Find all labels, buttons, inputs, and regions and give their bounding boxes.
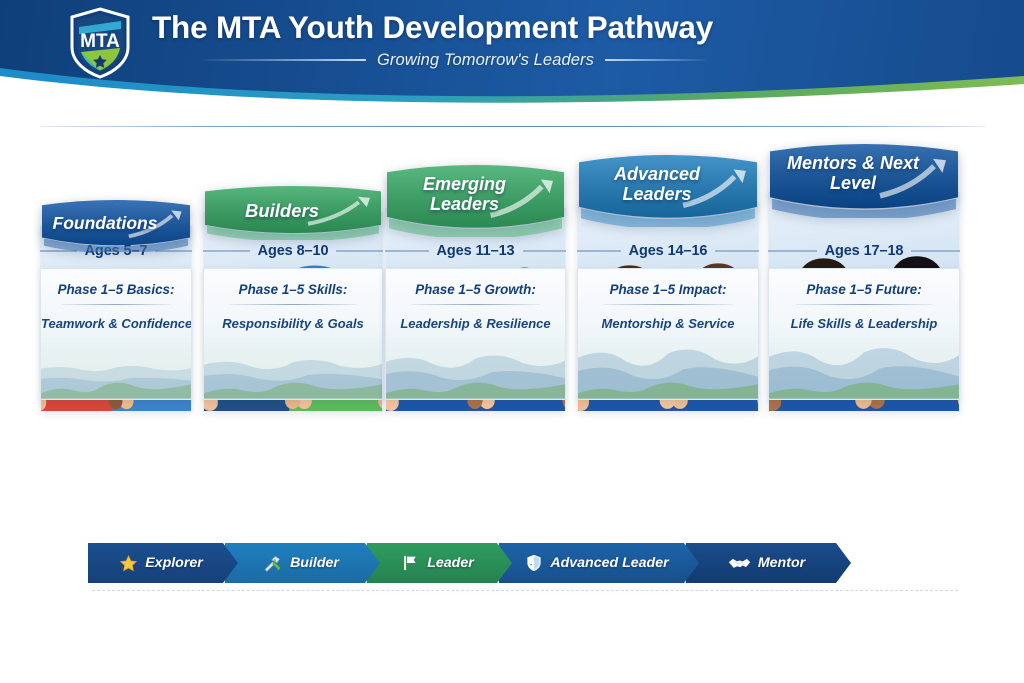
- stage-age-label-5: Ages 17–18: [825, 243, 904, 259]
- page-title: The MTA Youth Development Pathway: [152, 10, 952, 45]
- pathway-stages: FoundationsAges 5–7 Phase 1–5 Basics:Tea…: [0, 130, 1024, 530]
- age-rule-left: [203, 250, 250, 251]
- stage-phase-title-3: Phase 1–5 Growth:: [386, 282, 565, 297]
- stage-banner-label-3: Emerging Leaders: [381, 175, 570, 214]
- mta-shield-icon: MTA: [68, 7, 132, 79]
- stage-phase-title-4: Phase 1–5 Impact:: [578, 282, 758, 297]
- ribbon-step-label-4: Advanced Leader: [550, 555, 672, 571]
- stage-phase-title-2: Phase 1–5 Skills:: [204, 282, 382, 297]
- stage-banner-label-1: Foundations: [36, 214, 196, 233]
- stage-banner-1[interactable]: Foundations: [36, 200, 196, 252]
- star-icon: [119, 554, 138, 573]
- stage-phase-focus-4: Mentorship & Service: [578, 316, 758, 331]
- page-subtitle: Growing Tomorrow's Leaders: [377, 51, 594, 70]
- phase-divider: [411, 304, 540, 305]
- age-rule-right: [336, 250, 383, 251]
- stage-banner-3[interactable]: Emerging Leaders: [381, 165, 570, 237]
- age-rule-right: [715, 250, 759, 251]
- stage-age-row-5: Ages 17–18: [768, 243, 960, 259]
- stage-phase-card-2[interactable]: Phase 1–5 Skills:Responsibility & Goals: [203, 268, 383, 400]
- ribbon-step-label-2: Builder: [290, 555, 343, 571]
- ribbon-step-2[interactable]: Builder: [225, 543, 380, 583]
- ribbon-baseline: [92, 590, 958, 591]
- stage-banner-5[interactable]: Mentors & Next Level: [764, 144, 964, 218]
- shield-icon: [525, 553, 543, 573]
- ribbon-step-4[interactable]: Advanced Leader: [499, 543, 699, 583]
- age-rule-right: [523, 250, 567, 251]
- stage-phase-card-4[interactable]: Phase 1–5 Impact:Mentorship & Service: [577, 268, 759, 400]
- ribbon-step-5[interactable]: Mentor: [686, 543, 851, 583]
- stage-age-row-2: Ages 8–10: [203, 243, 383, 259]
- stage-age-row-4: Ages 14–16: [577, 243, 759, 259]
- progression-ribbon: ExplorerBuilderLeaderAdvanced LeaderMent…: [88, 543, 954, 583]
- stage-phase-card-3[interactable]: Phase 1–5 Growth:Leadership & Resilience: [385, 268, 566, 400]
- ribbon-step-label-5: Mentor: [758, 555, 809, 571]
- stage-age-label-4: Ages 14–16: [629, 243, 708, 259]
- stage-age-label-2: Ages 8–10: [258, 243, 329, 259]
- stage-banner-label-4: Advanced Leaders: [573, 165, 763, 204]
- phase-divider: [62, 304, 170, 305]
- stage-phase-focus-5: Life Skills & Leadership: [769, 316, 959, 331]
- svg-text:MTA: MTA: [80, 31, 120, 52]
- handshake-icon: [728, 554, 751, 572]
- stage-banner-label-2: Builders: [199, 201, 387, 221]
- ribbon-step-3[interactable]: Leader: [367, 543, 512, 583]
- stage-phase-focus-2: Responsibility & Goals: [204, 316, 382, 331]
- flag-icon: [401, 553, 420, 573]
- stage-phase-title-1: Phase 1–5 Basics:: [41, 282, 191, 297]
- ribbon-step-label-3: Leader: [427, 555, 478, 571]
- stage-banner-2[interactable]: Builders: [199, 186, 387, 240]
- phase-divider: [796, 304, 933, 305]
- stage-age-row-3: Ages 11–13: [385, 243, 566, 259]
- subtitle-rule-left: [204, 59, 366, 61]
- subtitle-rule-right: [605, 59, 705, 61]
- phase-divider: [229, 304, 357, 305]
- hammer-wrench-icon: [262, 554, 283, 573]
- age-rule-left: [577, 250, 621, 251]
- page-header: MTA The MTA Youth Development Pathway Gr…: [0, 0, 1024, 104]
- ribbon-step-1[interactable]: Explorer: [88, 543, 238, 583]
- stage-age-label-3: Ages 11–13: [437, 243, 515, 259]
- stage-banner-label-5: Mentors & Next Level: [764, 154, 964, 193]
- stage-banner-4[interactable]: Advanced Leaders: [573, 155, 763, 227]
- phase-divider: [603, 304, 733, 305]
- stage-phase-card-5[interactable]: Phase 1–5 Future:Life Skills & Leadershi…: [768, 268, 960, 400]
- subtitle-row: Growing Tomorrow's Leaders: [204, 51, 804, 70]
- stage-phase-focus-3: Leadership & Resilience: [386, 316, 565, 331]
- ribbon-step-label-1: Explorer: [145, 555, 207, 571]
- age-rule-right: [911, 250, 960, 251]
- stage-phase-title-5: Phase 1–5 Future:: [769, 282, 959, 297]
- header-divider: [40, 126, 986, 127]
- age-rule-left: [385, 250, 429, 251]
- stage-phase-card-1[interactable]: Phase 1–5 Basics:Teamwork & Confidence: [40, 268, 192, 400]
- stage-phase-focus-1: Teamwork & Confidence: [41, 316, 191, 331]
- age-rule-left: [768, 250, 817, 251]
